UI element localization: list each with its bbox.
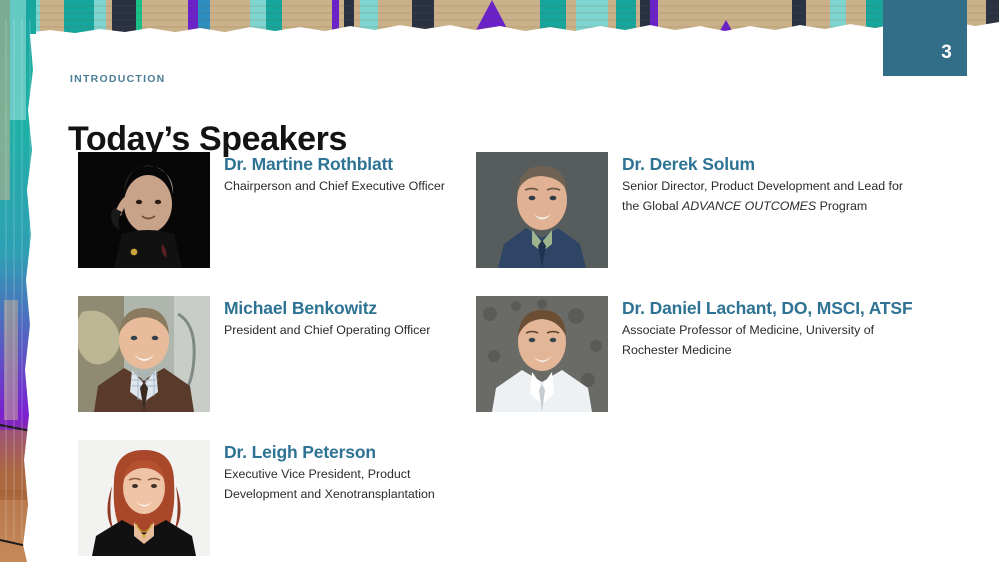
page-number: 3 [941, 43, 952, 62]
photo-martine-rothblatt [78, 152, 210, 268]
photo-michael-benkowitz [78, 296, 210, 412]
speaker-card: Michael Benkowitz President and Chief Op… [78, 296, 468, 412]
abstract-art-top-banner [0, 0, 999, 34]
speaker-card: Dr. Derek Solum Senior Director, Product… [476, 152, 976, 268]
speaker-role: President and Chief Operating Officer [224, 321, 430, 341]
photo-daniel-lachant [476, 296, 608, 412]
speaker-name: Michael Benkowitz [224, 298, 430, 318]
speaker-card: Dr. Martine Rothblatt Chairperson and Ch… [78, 152, 468, 268]
speaker-name: Dr. Derek Solum [622, 154, 922, 174]
slide-root: 3 INTRODUCTION Today’s Speakers [0, 0, 999, 562]
speaker-name: Dr. Leigh Peterson [224, 442, 464, 462]
speaker-role: Executive Vice President, Product Develo… [224, 465, 464, 504]
speaker-card: Dr. Leigh Peterson Executive Vice Presid… [78, 440, 468, 556]
abstract-art-left-band [0, 0, 36, 562]
photo-derek-solum [476, 152, 608, 268]
speaker-role-emphasis: ADVANCE OUTCOMES [682, 199, 816, 213]
speaker-role: Senior Director, Product Development and… [622, 177, 922, 216]
speaker-role: Associate Professor of Medicine, Univers… [622, 321, 922, 360]
speaker-name: Dr. Martine Rothblatt [224, 154, 445, 174]
speaker-role-post: Program [816, 199, 867, 213]
photo-leigh-peterson [78, 440, 210, 556]
section-eyebrow-label: INTRODUCTION [70, 73, 166, 85]
speaker-name: Dr. Daniel Lachant, DO, MSCI, ATSF [622, 298, 922, 318]
speaker-card: Dr. Daniel Lachant, DO, MSCI, ATSF Assoc… [476, 296, 976, 412]
speaker-role: Chairperson and Chief Executive Officer [224, 177, 445, 197]
page-number-badge: 3 [883, 0, 967, 76]
